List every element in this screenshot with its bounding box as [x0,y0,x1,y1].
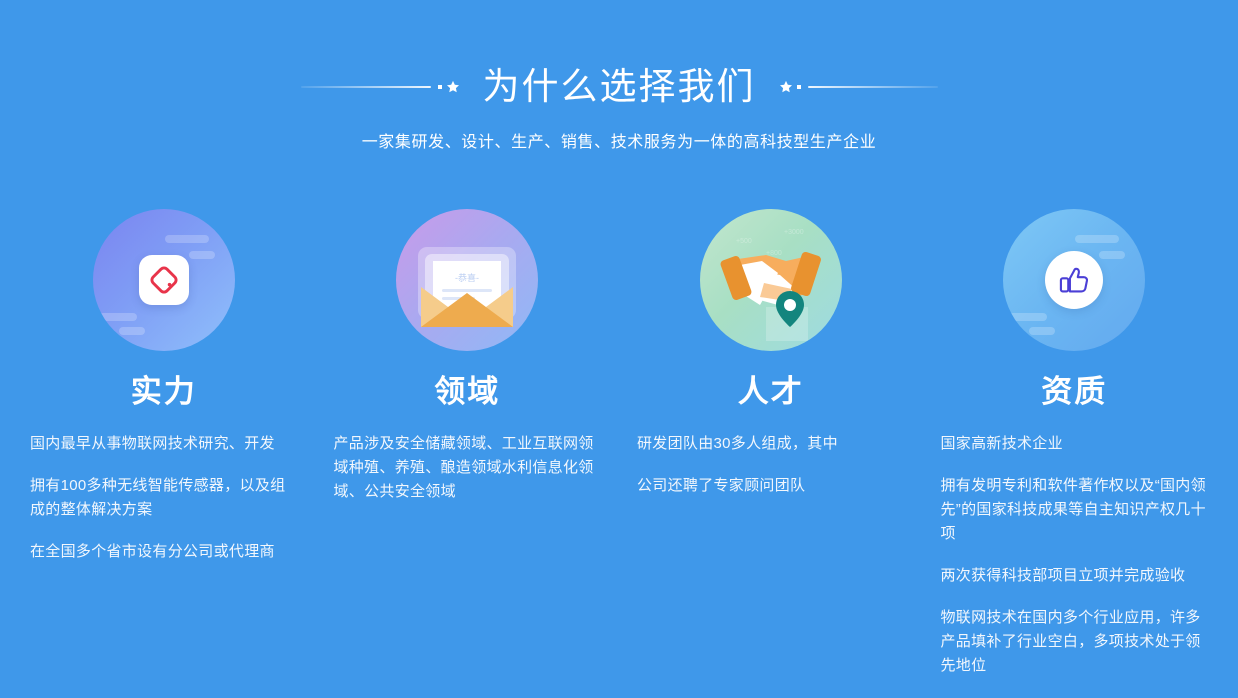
decor-dot-right [797,85,801,89]
list-item: 物联网技术在国内多个行业应用，许多产品填补了行业空白，多项技术处于领先地位 [941,606,1209,678]
decor-left [301,77,457,97]
decor-streak [1029,327,1055,335]
feature-columns: 实力 国内最早从事物联网技术研究、开发 拥有100多种无线智能传感器，以及组成的… [0,200,1238,696]
icon-wrap-qualification [941,200,1209,360]
list-item: 国内最早从事物联网技术研究、开发 [30,432,298,456]
decor-line-left [301,86,431,88]
bullet-list-qualification: 国家高新技术企业 拥有发明专利和软件著作权以及“国内领先”的国家科技成果等自主知… [941,432,1209,678]
decor-dot-left [438,85,442,89]
list-item: 国家高新技术企业 [941,432,1209,456]
decor-streak [1099,251,1125,259]
bullet-list-domain: 产品涉及安全储藏领域、工业互联网领域种殖、养殖、酿造领域水利信息化领域、公共安全… [334,432,602,504]
feature-column-strength: 实力 国内最早从事物联网技术研究、开发 拥有100多种无线智能传感器，以及组成的… [12,200,316,696]
decor-streak [1075,235,1119,243]
handshake-location-icon: +500 +3000 +800 [700,209,842,351]
feature-column-talent: +500 +3000 +800 人才 研发团队由30多人组成 [619,200,923,696]
list-item: 研发团队由30多人组成，其中 [637,432,905,456]
list-item: 产品涉及安全储藏领域、工业互联网领域种殖、养殖、酿造领域水利信息化领域、公共安全… [334,432,602,504]
svg-text:+3000: +3000 [784,229,804,236]
icon-wrap-talent: +500 +3000 +800 [637,200,905,360]
list-item: 拥有发明专利和软件著作权以及“国内领先”的国家科技成果等自主知识产权几十项 [941,474,1209,546]
decor-streak [119,327,145,335]
svg-text:+500: +500 [736,238,752,245]
column-title-qualification: 资质 [941,372,1209,412]
title-row: 为什么选择我们 [0,62,1238,112]
column-title-talent: 人才 [637,372,905,412]
icon-wrap-domain: -恭喜- [334,200,602,360]
column-title-strength: 实力 [30,372,298,412]
bullet-list-talent: 研发团队由30多人组成，其中 公司还聘了专家顾问团队 [637,432,905,498]
decor-streak [1009,313,1047,321]
tag-diamond-icon [139,255,189,305]
decor-streak [189,251,215,259]
list-item: 拥有100多种无线智能传感器，以及组成的整体解决方案 [30,474,298,522]
bullet-list-strength: 国内最早从事物联网技术研究、开发 拥有100多种无线智能传感器，以及组成的整体解… [30,432,298,564]
decor-streak [99,313,137,321]
icon-circle-qualification [1003,209,1145,351]
decor-line-right [808,86,938,88]
feature-column-domain: -恭喜- 领域 产品涉及安全储藏领域、工业互联网领域种殖、养殖、酿造领域水利信息… [316,200,620,696]
icon-circle-domain: -恭喜- [396,209,538,351]
icon-wrap-strength [30,200,298,360]
icon-circle-talent: +500 +3000 +800 [700,209,842,351]
list-item: 在全国多个省市设有分公司或代理商 [30,540,298,564]
thumbs-up-icon [1045,251,1103,309]
column-title-domain: 领域 [334,372,602,412]
decor-right [782,77,938,97]
icon-circle-strength [93,209,235,351]
feature-column-qualification: 资质 国家高新技术企业 拥有发明专利和软件著作权以及“国内领先”的国家科技成果等… [923,200,1227,696]
envelope-letter-icon: -恭喜- [396,209,538,351]
svg-text:-恭喜-: -恭喜- [455,272,479,283]
list-item: 公司还聘了专家顾问团队 [637,474,905,498]
page-subtitle: 一家集研发、设计、生产、销售、技术服务为一体的高科技型生产企业 [0,132,1238,154]
list-item: 两次获得科技部项目立项并完成验收 [941,564,1209,588]
section-header: 为什么选择我们 一家集研发、设计、生产、销售、技术服务为一体的高科技型生产企业 [0,0,1238,154]
decor-streak [165,235,209,243]
page-title: 为什么选择我们 [457,63,782,111]
